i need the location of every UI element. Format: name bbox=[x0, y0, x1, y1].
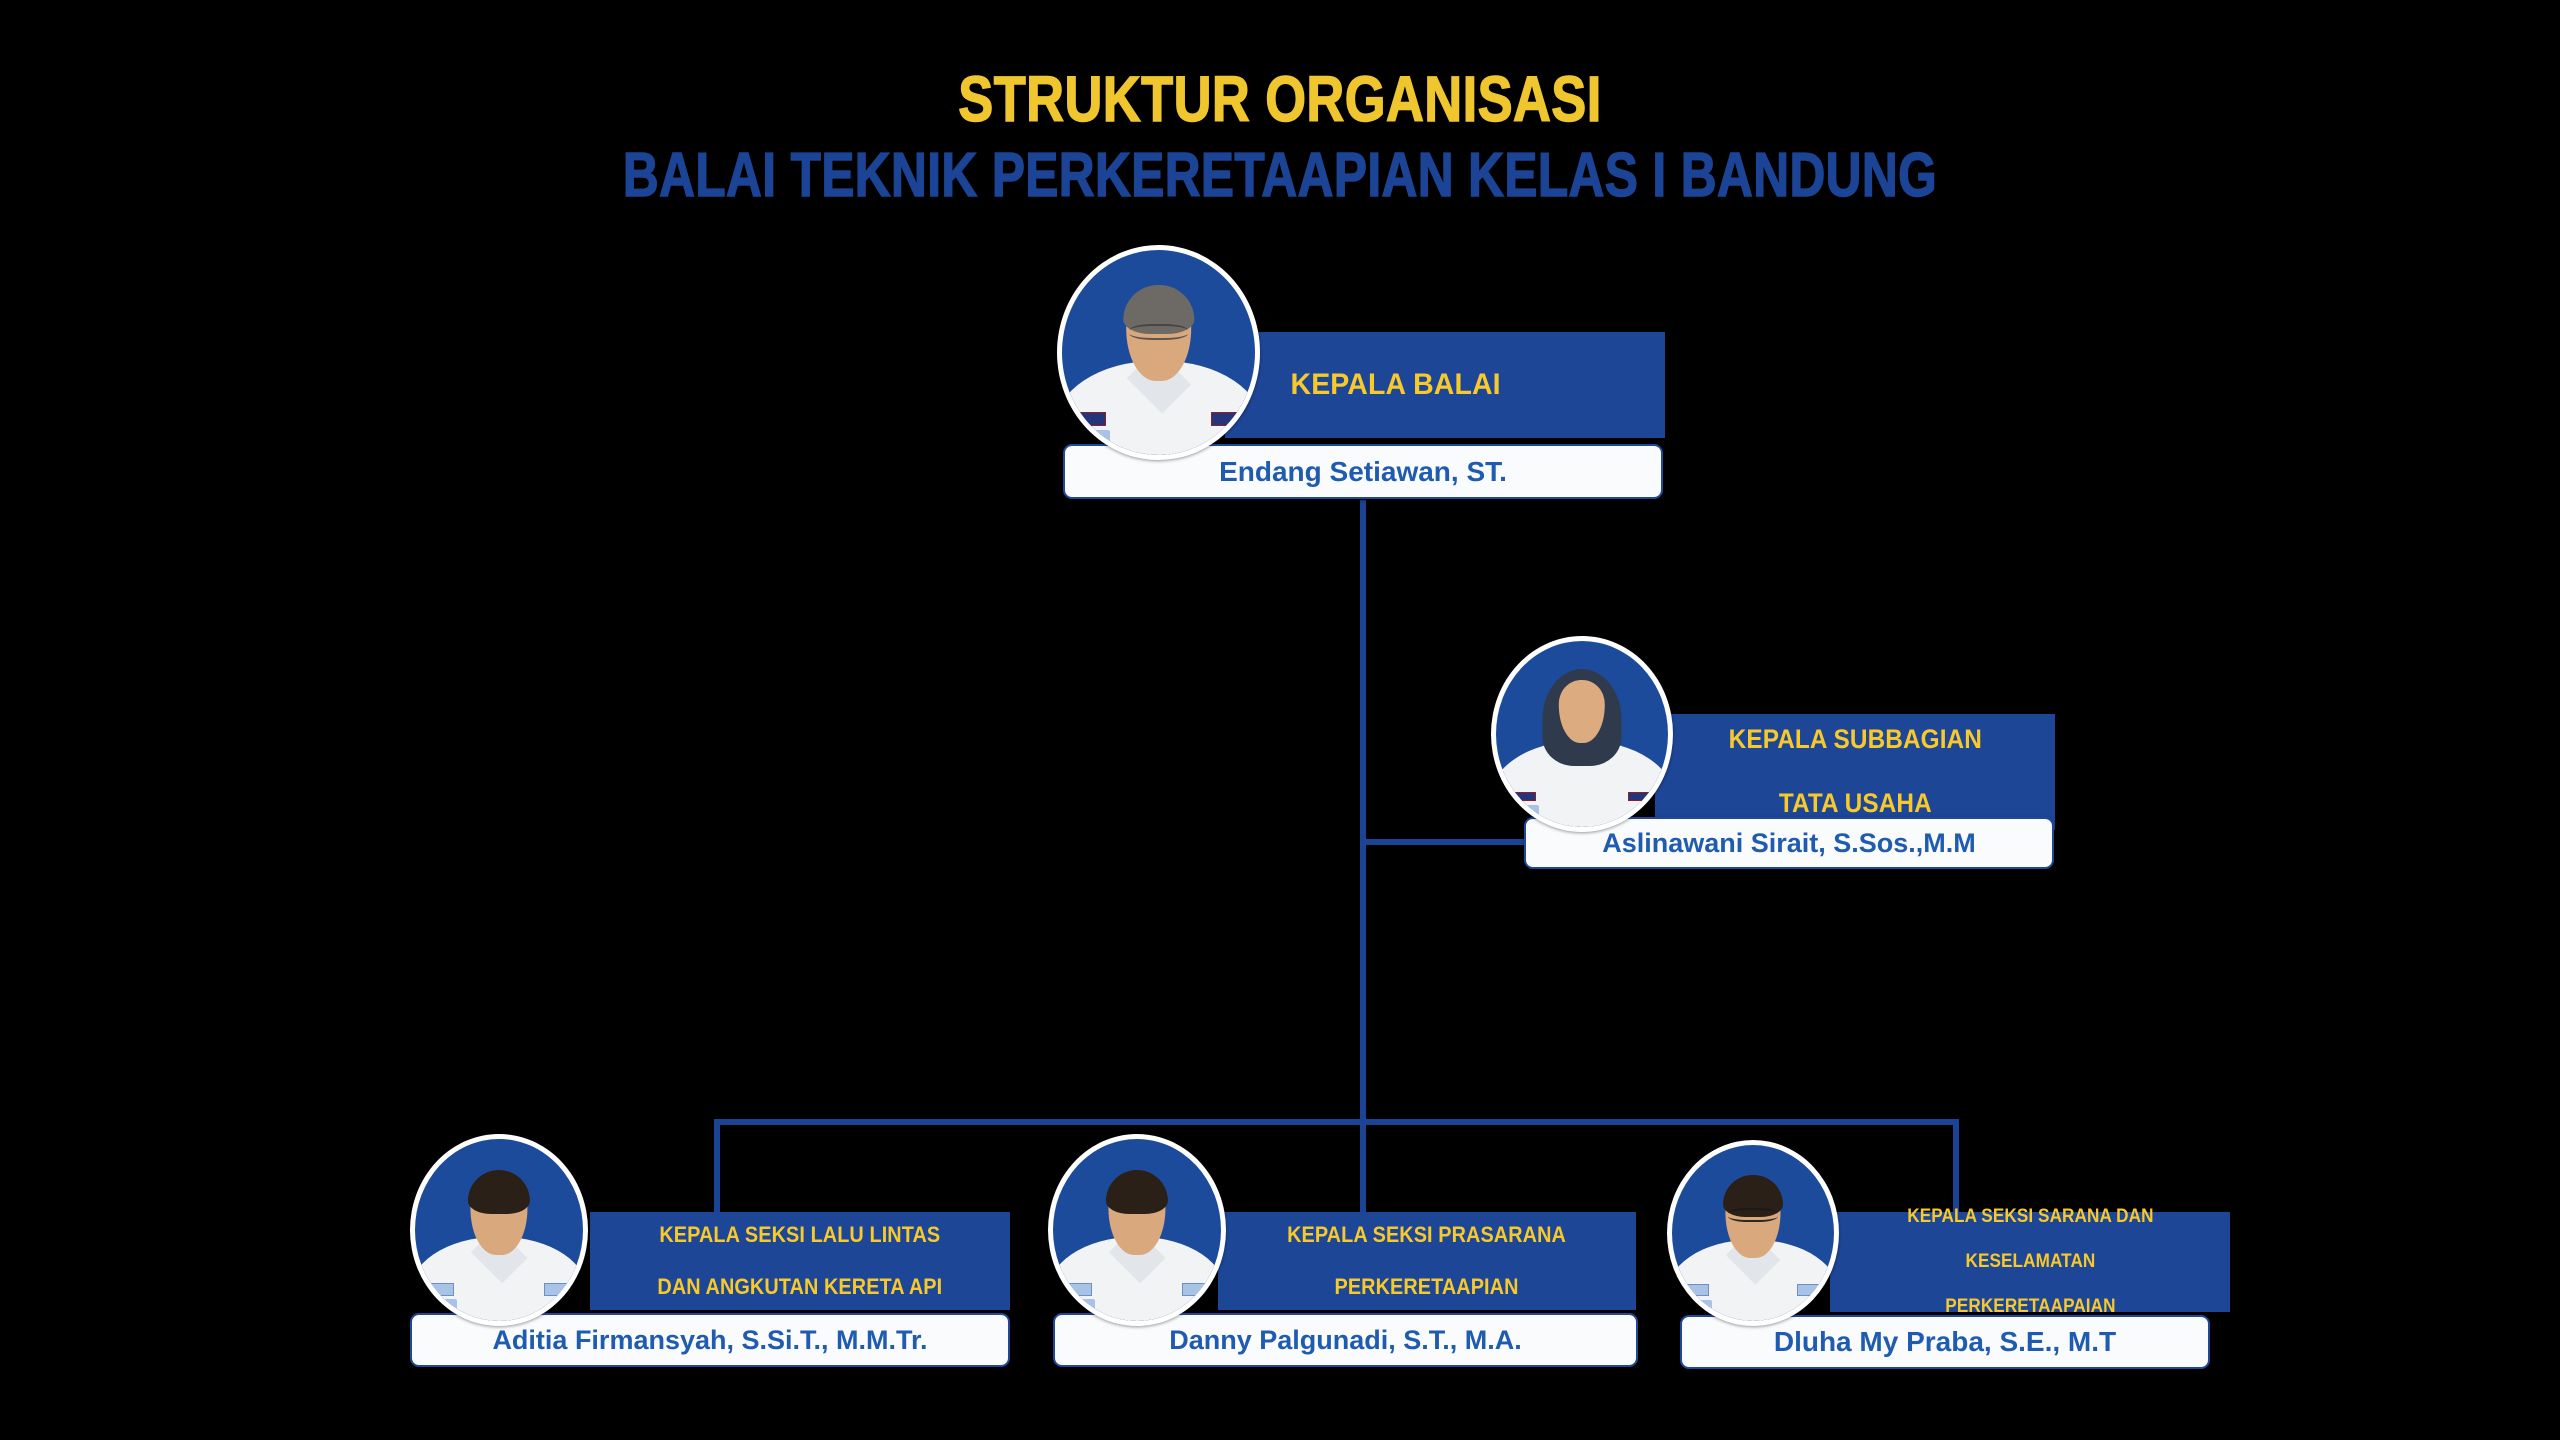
avatar-prasarana bbox=[1048, 1134, 1226, 1326]
node-title-text-prasarana: KEPALA SEKSI PRASARANA PERKERETAAPIAN bbox=[1280, 1222, 1574, 1300]
connector-branch-subbagian bbox=[1360, 839, 1532, 845]
connector-drop-sarana bbox=[1953, 1119, 1959, 1214]
node-title-lalu-lintas: KEPALA SEKSI LALU LINTAS DAN ANGKUTAN KE… bbox=[590, 1212, 1010, 1310]
node-name-text-sarana: Dluha My Praba, S.E., M.T bbox=[1774, 1326, 2116, 1358]
node-title-sarana: KEPALA SEKSI SARANA DAN KESELAMATAN PERK… bbox=[1830, 1212, 2230, 1312]
avatar-sarana bbox=[1667, 1140, 1839, 1326]
page-title-line2: BALAI TEKNIK PERKERETAAPIAN KELAS I BAND… bbox=[256, 140, 2304, 211]
avatar-kepala-subbagian bbox=[1491, 636, 1673, 832]
node-title-kepala-balai: KEPALA BALAI bbox=[1225, 332, 1665, 438]
connector-trunk-vertical bbox=[1360, 500, 1366, 1124]
node-title-prasarana: KEPALA SEKSI PRASARANA PERKERETAAPIAN bbox=[1218, 1212, 1636, 1310]
org-chart-canvas: STRUKTUR ORGANISASI BALAI TEKNIK PERKERE… bbox=[0, 0, 2560, 1440]
node-title-text-kepala-subbagian: KEPALA SUBBAGIAN TATA USAHA bbox=[1722, 724, 1989, 820]
node-title-text-sarana: KEPALA SEKSI SARANA DAN KESELAMATAN PERK… bbox=[1900, 1206, 2159, 1318]
node-name-text-prasarana: Danny Palgunadi, S.T., M.A. bbox=[1169, 1325, 1522, 1356]
connector-drop-prasarana bbox=[1360, 1119, 1366, 1214]
node-name-text-kepala-subbagian: Aslinawani Sirait, S.Sos.,M.M bbox=[1602, 828, 1976, 859]
node-title-kepala-subbagian: KEPALA SUBBAGIAN TATA USAHA bbox=[1655, 714, 2055, 830]
avatar-kepala-balai bbox=[1057, 245, 1260, 460]
connector-drop-lalu-lintas bbox=[714, 1119, 720, 1214]
node-name-text-lalu-lintas: Aditia Firmansyah, S.Si.T., M.M.Tr. bbox=[492, 1325, 927, 1356]
page-title-line1: STRUKTUR ORGANISASI bbox=[230, 62, 2329, 136]
node-name-text-kepala-balai: Endang Setiawan, ST. bbox=[1219, 456, 1507, 488]
node-title-text-kepala-balai: KEPALA BALAI bbox=[1291, 367, 1501, 402]
connector-bus-horizontal bbox=[714, 1119, 1959, 1125]
avatar-lalu-lintas bbox=[410, 1134, 588, 1326]
node-title-text-lalu-lintas: KEPALA SEKSI LALU LINTAS DAN ANGKUTAN KE… bbox=[650, 1222, 950, 1300]
